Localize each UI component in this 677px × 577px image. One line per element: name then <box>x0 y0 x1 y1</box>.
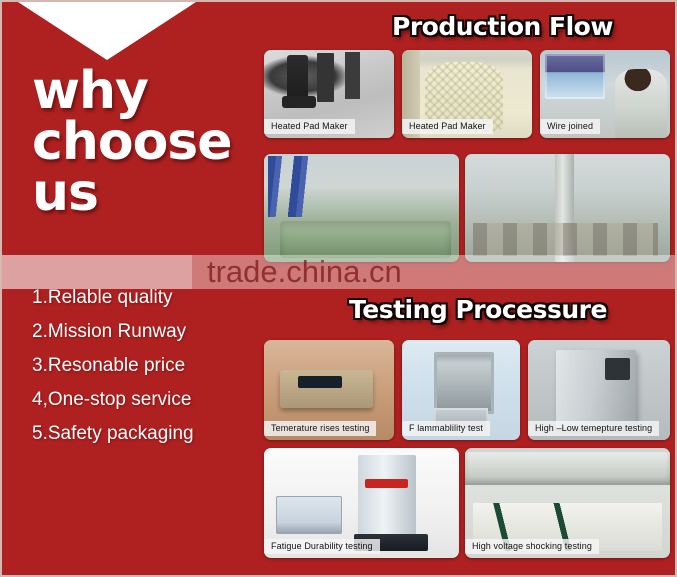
list-item: 3.Resonable price <box>32 356 257 375</box>
photo-tile-high-low-temperature-testing: High –Low temepture testing <box>528 340 670 440</box>
photo-tile-temperature-rises-testing: Temerature rises testing <box>264 340 394 440</box>
photo-caption: Wire joined <box>540 119 600 134</box>
photo-tile-heated-pad-maker-2: Heated Pad Maker <box>402 50 532 138</box>
watermark-text: trade.china.cn <box>207 255 402 289</box>
photo-tile-fatigue-durability-testing: Fatigue Durability testing <box>264 448 459 558</box>
headline-line-1: why <box>32 66 257 117</box>
benefits-list: 1.Relable quality 2.Mission Runway 3.Res… <box>32 288 257 458</box>
list-item: 1.Relable quality <box>32 288 257 307</box>
photo-tile-wire-joined: Wire joined <box>540 50 670 138</box>
photo-caption: Heated Pad Maker <box>264 119 355 134</box>
photo-factory-floor-right <box>465 154 670 262</box>
photo-caption: Heated Pad Maker <box>402 119 493 134</box>
photo-tile-high-voltage-shocking-testing: High voltage shocking testing <box>465 448 670 558</box>
photo-laptop-element <box>276 496 342 533</box>
photo-tile-factory-floor-1 <box>264 154 459 262</box>
photo-caption: Temerature rises testing <box>264 421 376 436</box>
photo-tile-heated-pad-maker-1: Heated Pad Maker <box>264 50 394 138</box>
headline-line-3: us <box>32 168 257 219</box>
photo-caption: High –Low temepture testing <box>528 421 659 436</box>
section-title-testing-processure: Testing Processure <box>349 295 607 324</box>
left-panel: why choose us 1.Relable quality 2.Missio… <box>2 2 257 577</box>
section-title-production-flow: Production Flow <box>392 12 613 41</box>
photo-tile-flammability-test: F lammablility test <box>402 340 520 440</box>
headline-line-2: choose <box>32 117 257 168</box>
list-item: 2.Mission Runway <box>32 322 257 341</box>
photo-caption: High voltage shocking testing <box>465 539 599 554</box>
right-panel: Production Flow Heated Pad Maker Heated … <box>257 2 677 577</box>
list-item: 5.Safety packaging <box>32 424 257 443</box>
photo-tile-factory-floor-2 <box>465 154 670 262</box>
photo-caption: Fatigue Durability testing <box>264 539 380 554</box>
photo-wire-element <box>604 525 649 543</box>
watermark-band-left-fade <box>2 255 192 289</box>
why-choose-us-poster: why choose us 1.Relable quality 2.Missio… <box>0 0 677 577</box>
headline-why-choose-us: why choose us <box>32 66 257 219</box>
photo-caption: F lammablility test <box>402 421 490 436</box>
list-item: 4,One-stop service <box>32 390 257 409</box>
photo-factory-floor-left <box>264 154 459 262</box>
